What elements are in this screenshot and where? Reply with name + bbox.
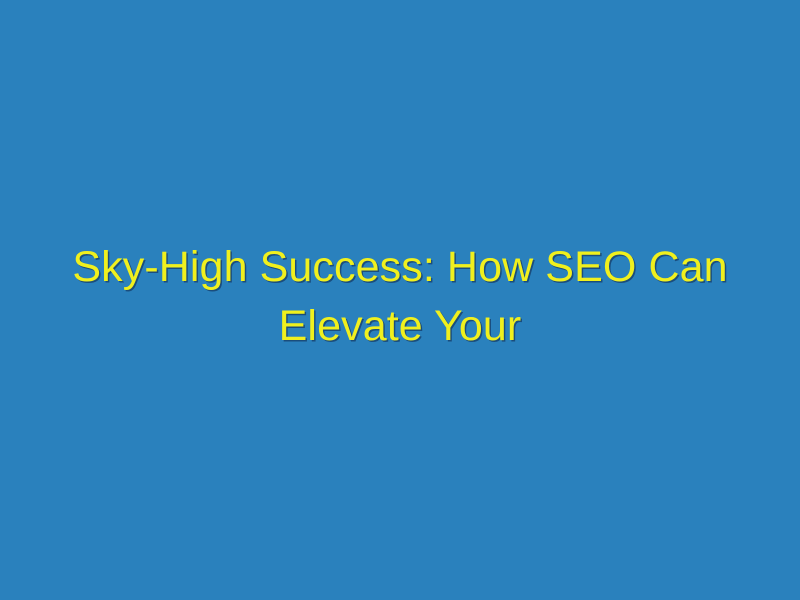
hero-title-block: Sky-High Success: How SEO CanElevate You… bbox=[0, 0, 800, 356]
page-title-line-1: Sky-High Success: How SEO Can bbox=[40, 238, 760, 297]
page-title-line-2: Elevate Your bbox=[40, 297, 760, 356]
hero-banner: Sky-High Success: How SEO CanElevate You… bbox=[0, 0, 800, 600]
page-title: Sky-High Success: How SEO CanElevate You… bbox=[0, 238, 800, 356]
